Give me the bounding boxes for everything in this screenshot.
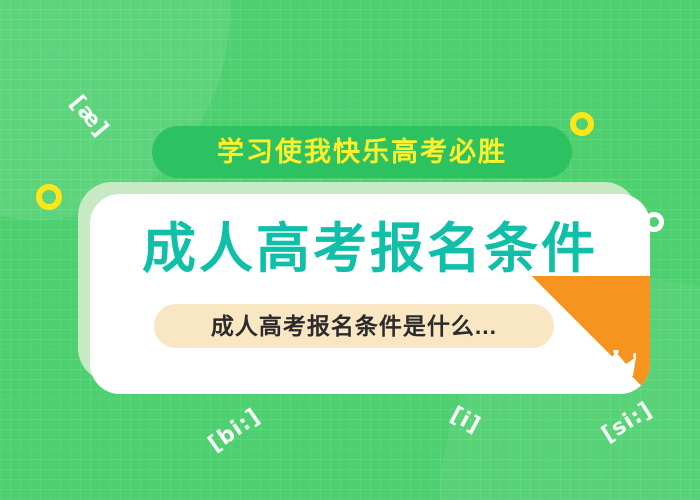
decorative-ring-yellow-top-right [570, 112, 594, 136]
banner-text: 学习使我快乐高考必胜 [217, 139, 507, 166]
page-title: 成人高考报名条件 [90, 222, 650, 276]
banner-pill: 学习使我快乐高考必胜 [152, 126, 572, 178]
main-card: 成人高考报名条件 成人高考报名条件是什么... [90, 194, 650, 394]
subtitle-pill: 成人高考报名条件是什么... [154, 304, 554, 348]
decorative-phonetic-bi: [bi:] [204, 404, 265, 457]
crown-icon [596, 350, 636, 380]
poster-canvas: [æ] [bi:] [i] [si:] 学习使我快乐高考必胜 成人高考报名条件 … [0, 0, 700, 500]
decorative-ring-yellow-left [36, 184, 62, 210]
subtitle-text: 成人高考报名条件是什么... [211, 315, 497, 338]
